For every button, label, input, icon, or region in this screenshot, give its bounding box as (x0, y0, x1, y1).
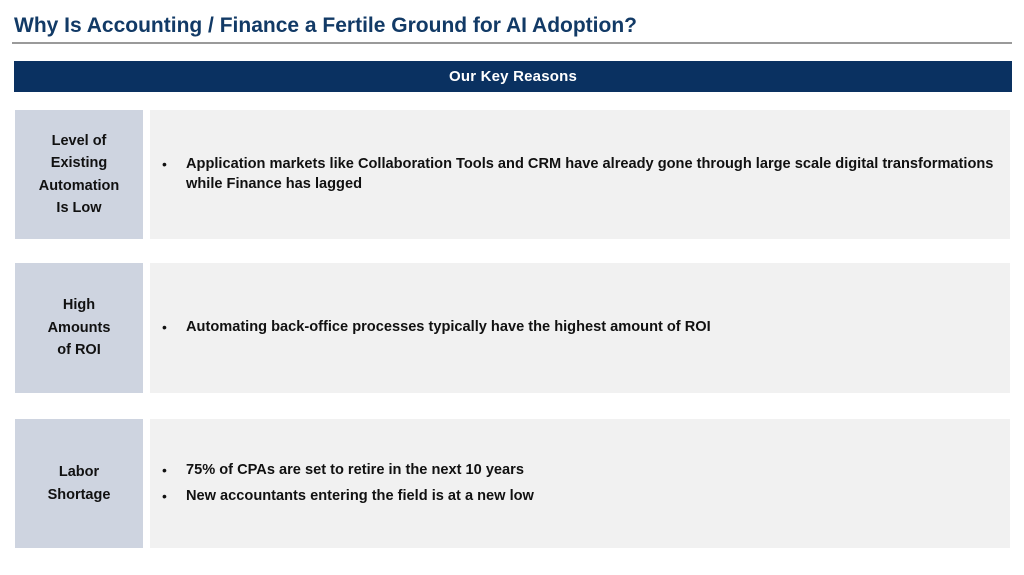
page-title: Why Is Accounting / Finance a Fertile Gr… (14, 14, 637, 38)
bullet-text: 75% of CPAs are set to retire in the nex… (186, 461, 996, 481)
reason-content-box-2: • Automating back-office processes typic… (150, 263, 1010, 393)
bullet-list: • Automating back-office processes typic… (150, 318, 1010, 338)
reason-row: Labor Shortage • 75% of CPAs are set to … (0, 419, 1024, 548)
key-reasons-banner: Our Key Reasons (14, 61, 1012, 92)
list-item: • New accountants entering the field is … (160, 487, 996, 507)
reason-row: High Amounts of ROI • Automating back-of… (0, 263, 1024, 393)
bullet-list: • 75% of CPAs are set to retire in the n… (150, 461, 1010, 507)
list-item: • Application markets like Collaboration… (160, 155, 996, 194)
reason-label-box-2: High Amounts of ROI (15, 263, 143, 393)
bullet-dot-icon: • (160, 155, 186, 175)
bullet-dot-icon: • (160, 318, 186, 338)
title-divider (12, 42, 1012, 44)
reason-label-box-1: Level of Existing Automation Is Low (15, 110, 143, 239)
reason-label-text: Labor Shortage (48, 461, 111, 506)
list-item: • Automating back-office processes typic… (160, 318, 996, 338)
bullet-list: • Application markets like Collaboration… (150, 155, 1010, 194)
reason-label-text: Level of Existing Automation Is Low (39, 130, 120, 220)
bullet-dot-icon: • (160, 487, 186, 507)
list-item: • 75% of CPAs are set to retire in the n… (160, 461, 996, 481)
reason-label-text: High Amounts of ROI (48, 294, 111, 362)
reason-row: Level of Existing Automation Is Low • Ap… (0, 110, 1024, 239)
banner-label: Our Key Reasons (449, 68, 577, 85)
reason-label-box-3: Labor Shortage (15, 419, 143, 548)
reason-content-box-1: • Application markets like Collaboration… (150, 110, 1010, 239)
bullet-text: Application markets like Collaboration T… (186, 155, 996, 194)
bullet-dot-icon: • (160, 461, 186, 481)
bullet-text: Automating back-office processes typical… (186, 318, 996, 338)
bullet-text: New accountants entering the field is at… (186, 487, 996, 507)
slide-canvas: Why Is Accounting / Finance a Fertile Gr… (0, 0, 1024, 575)
reason-content-box-3: • 75% of CPAs are set to retire in the n… (150, 419, 1010, 548)
